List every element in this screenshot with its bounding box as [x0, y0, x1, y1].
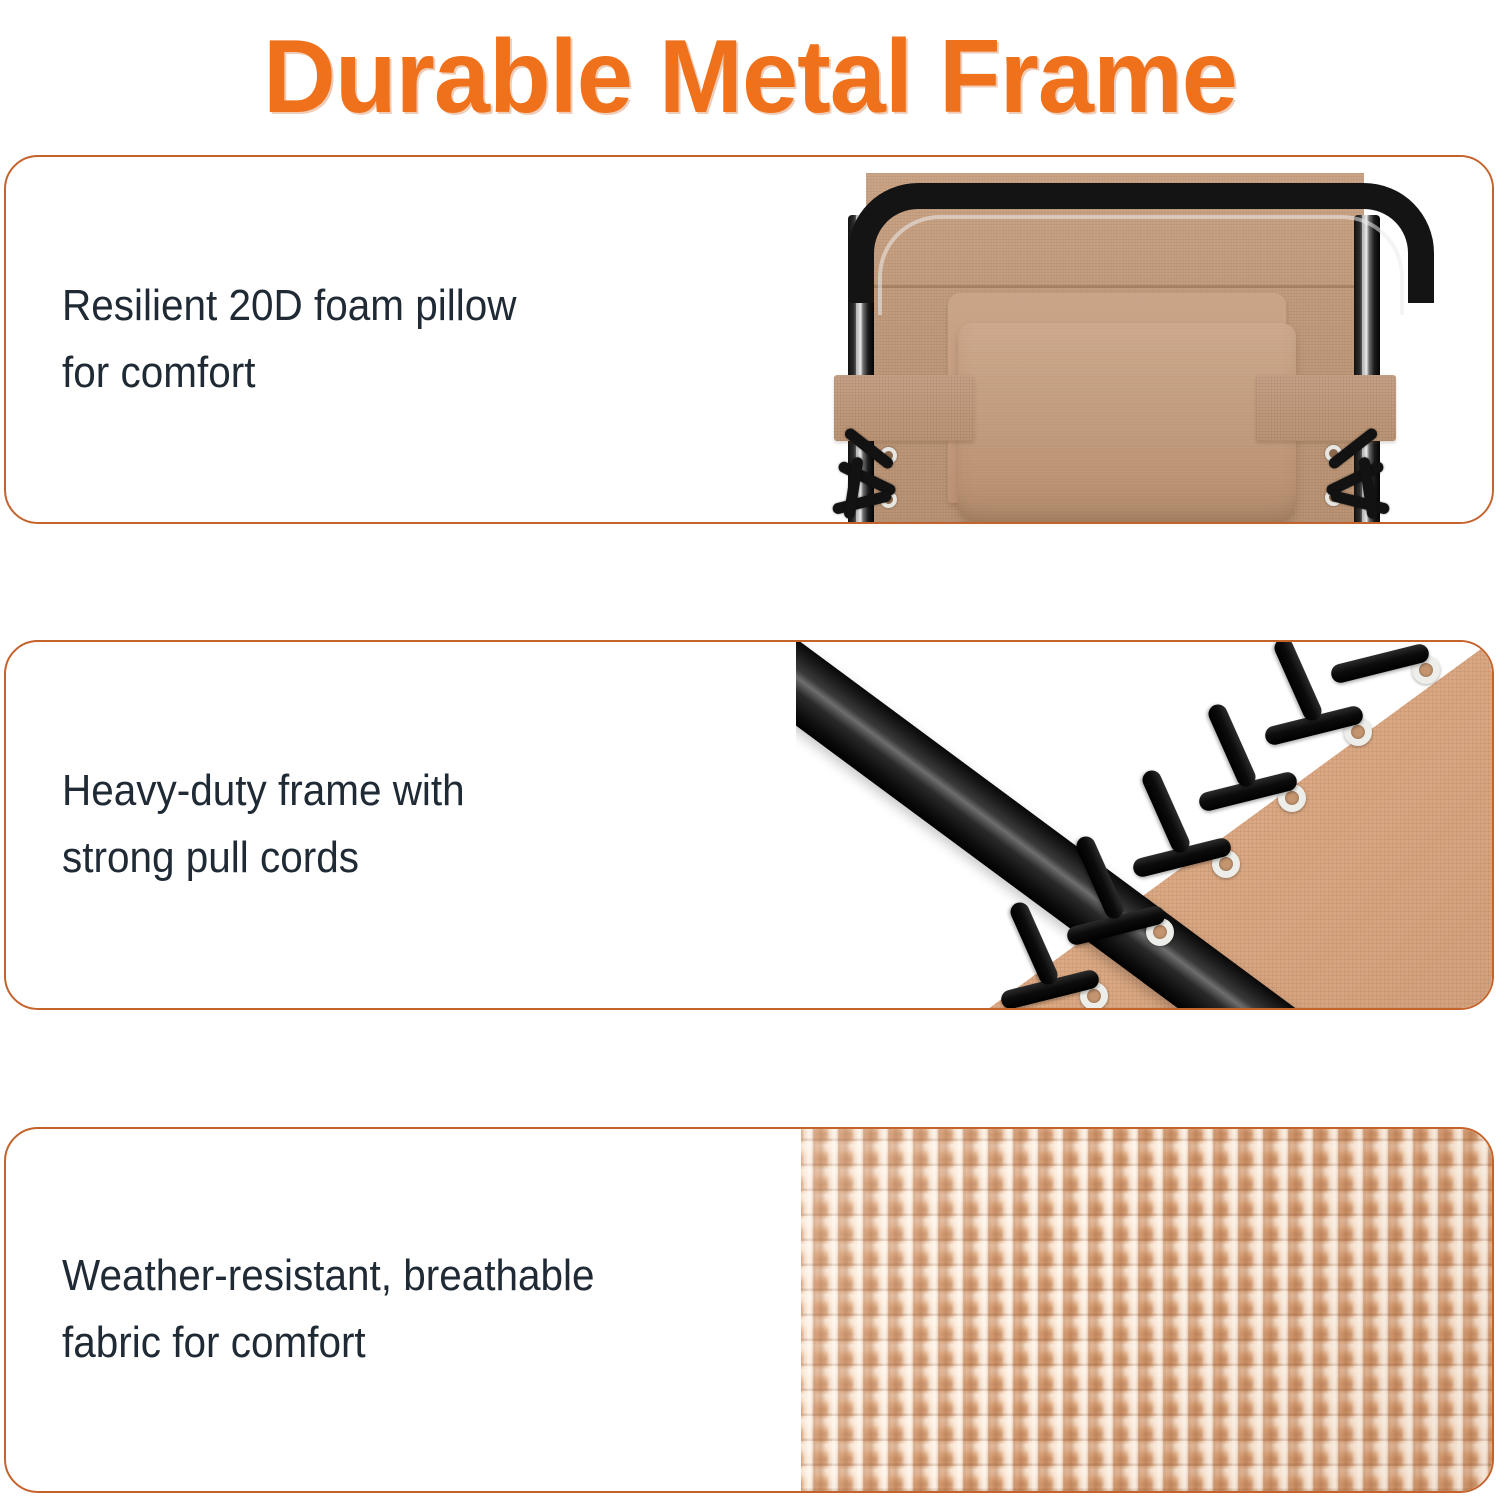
foam-pillow — [958, 323, 1296, 522]
feature-card-pillow: Resilient 20D foam pillow for comfort — [4, 155, 1494, 524]
feature-media-pillow — [796, 157, 1492, 522]
feature-card-frame: Heavy-duty frame with strong pull cords — [4, 640, 1494, 1010]
feature-caption-fabric: Weather-resistant, breathable fabric for… — [62, 1243, 595, 1377]
woven-fabric-texture-photo — [801, 1129, 1492, 1491]
frame-pull-cords-photo — [796, 642, 1492, 1008]
weave-sheen — [801, 1129, 1492, 1491]
feature-media-frame — [796, 642, 1492, 1008]
feature-media-fabric — [801, 1129, 1492, 1491]
page-header: Durable Metal Frame — [0, 0, 1500, 150]
pull-cord — [1271, 642, 1324, 724]
feature-text-block-fabric: Weather-resistant, breathable fabric for… — [6, 1129, 801, 1491]
feature-text-block-pillow: Resilient 20D foam pillow for comfort — [6, 157, 796, 522]
chair-headrest-pillow-photo — [796, 157, 1492, 522]
feature-card-fabric: Weather-resistant, breathable fabric for… — [4, 1127, 1494, 1493]
feature-text-block-frame: Heavy-duty frame with strong pull cords — [6, 642, 796, 1008]
pull-cord — [1205, 701, 1258, 789]
pull-cord — [1139, 767, 1192, 855]
feature-caption-frame: Heavy-duty frame with strong pull cords — [62, 758, 465, 892]
feature-caption-pillow: Resilient 20D foam pillow for comfort — [62, 273, 516, 407]
frame-tube-arc-icon — [848, 183, 1434, 303]
page-title: Durable Metal Frame — [263, 25, 1237, 129]
